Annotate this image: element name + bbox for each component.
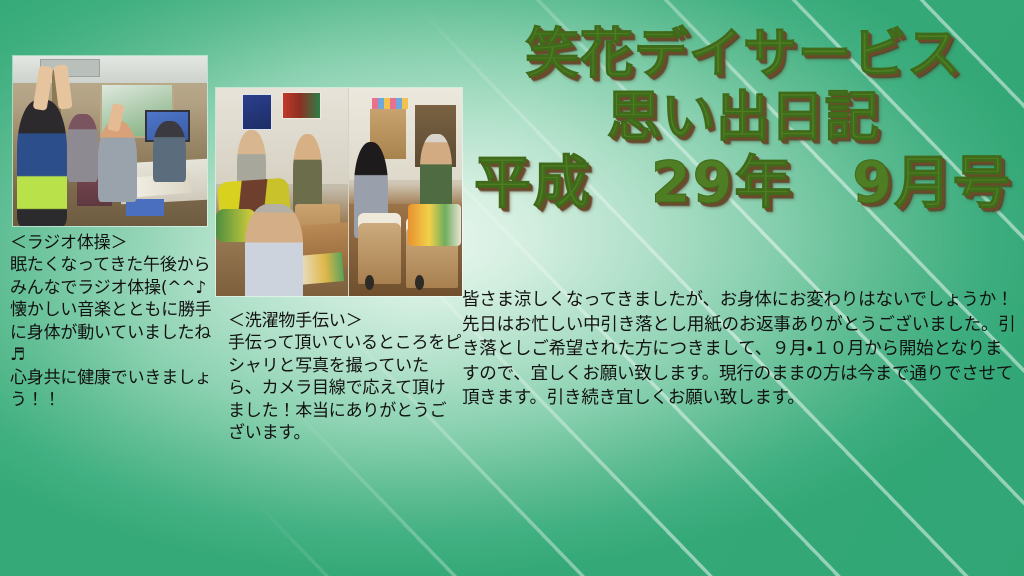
photo-chair-left [358, 213, 401, 284]
title-line-issue-date: 平成 29年 9月号 [466, 154, 1020, 212]
laundry-help-photo [216, 88, 462, 296]
radio-exercise-article-text: ＜ラジオ体操＞ 眠たくなってきた午後からみんなでラジオ体操(^^♪ 懐かしい音楽… [10, 232, 216, 412]
photo-chair-wheel-left [365, 275, 374, 290]
radio-exercise-photo-content [13, 56, 207, 226]
photo-poster-blue [242, 94, 272, 129]
photo-wall-decoration [372, 98, 408, 108]
laundry-help-photo-right [348, 88, 462, 296]
photo-open-book [297, 252, 344, 285]
title-line-service-name: 笑花デイサービス [466, 26, 1020, 81]
laundry-help-photo-left [216, 88, 348, 296]
photo-elder-foreground [245, 204, 303, 296]
photo-person-middle [67, 114, 98, 182]
page-title: 笑花デイサービス 思い出日記 平成 29年 9月号 [466, 26, 1020, 212]
greeting-article-text: 皆さま涼しくなってきましたが、お身体にお変わりはないでしょうか！ 先日はお忙しい… [462, 288, 1018, 411]
photo-person-right [153, 121, 186, 182]
photo-person-center [98, 121, 137, 203]
laundry-help-article-text: ＜洗濯物手伝い＞ 手伝って頂いているところをピシャリと写真を撮っていたら、カメラ… [228, 310, 462, 445]
photo-elder-right [293, 134, 322, 213]
title-line-diary-name: 思い出日記 [466, 89, 1020, 144]
newsletter-slide: 笑花デイサービス 思い出日記 平成 29年 9月号 [0, 0, 1024, 576]
photo-chair-wheel-right [415, 275, 424, 290]
photo-person-foreground [17, 100, 67, 226]
photo-laundry-basket [408, 204, 460, 246]
photo-poster-red [282, 92, 321, 119]
laundry-right-content [349, 88, 462, 296]
radio-exercise-photo [13, 56, 207, 226]
laundry-left-content [216, 88, 348, 296]
photo-elder-seated [420, 134, 452, 213]
